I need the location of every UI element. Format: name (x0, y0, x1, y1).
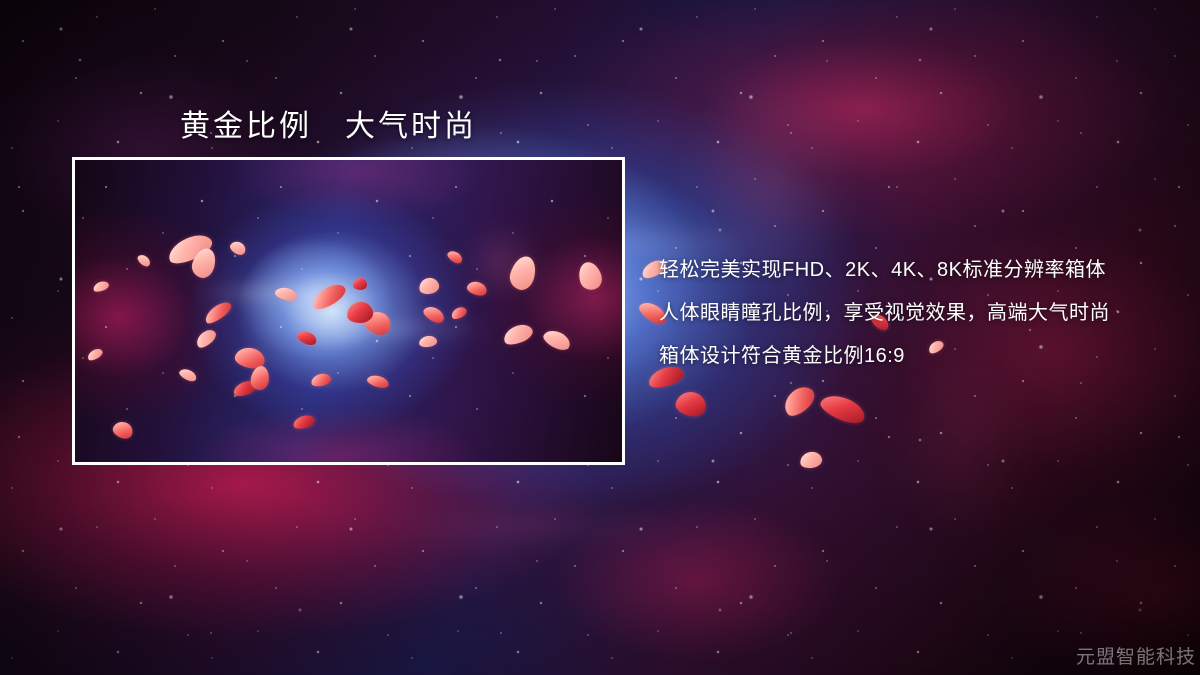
framed-image-panel (72, 157, 625, 465)
panel-starfield (75, 160, 622, 462)
body-line-3: 箱体设计符合黄金比例16:9 (659, 335, 1179, 378)
body-line-1: 轻松完美实现FHD、2K、4K、8K标准分辨率箱体 (659, 249, 1179, 292)
body-line-2: 人体眼睛瞳孔比例，享受视觉效果，高端大气时尚 (659, 292, 1179, 335)
body-copy: 轻松完美实现FHD、2K、4K、8K标准分辨率箱体 人体眼睛瞳孔比例，享受视觉效… (659, 249, 1179, 378)
watermark-logo-text: 元盟智能科技 (1076, 642, 1196, 669)
presentation-slide: 黄金比例 大气时尚 轻松完美实现FHD、2K、4K、8K标准分辨率箱体 人体眼睛… (0, 0, 1200, 675)
page-title: 黄金比例 大气时尚 (180, 101, 477, 145)
